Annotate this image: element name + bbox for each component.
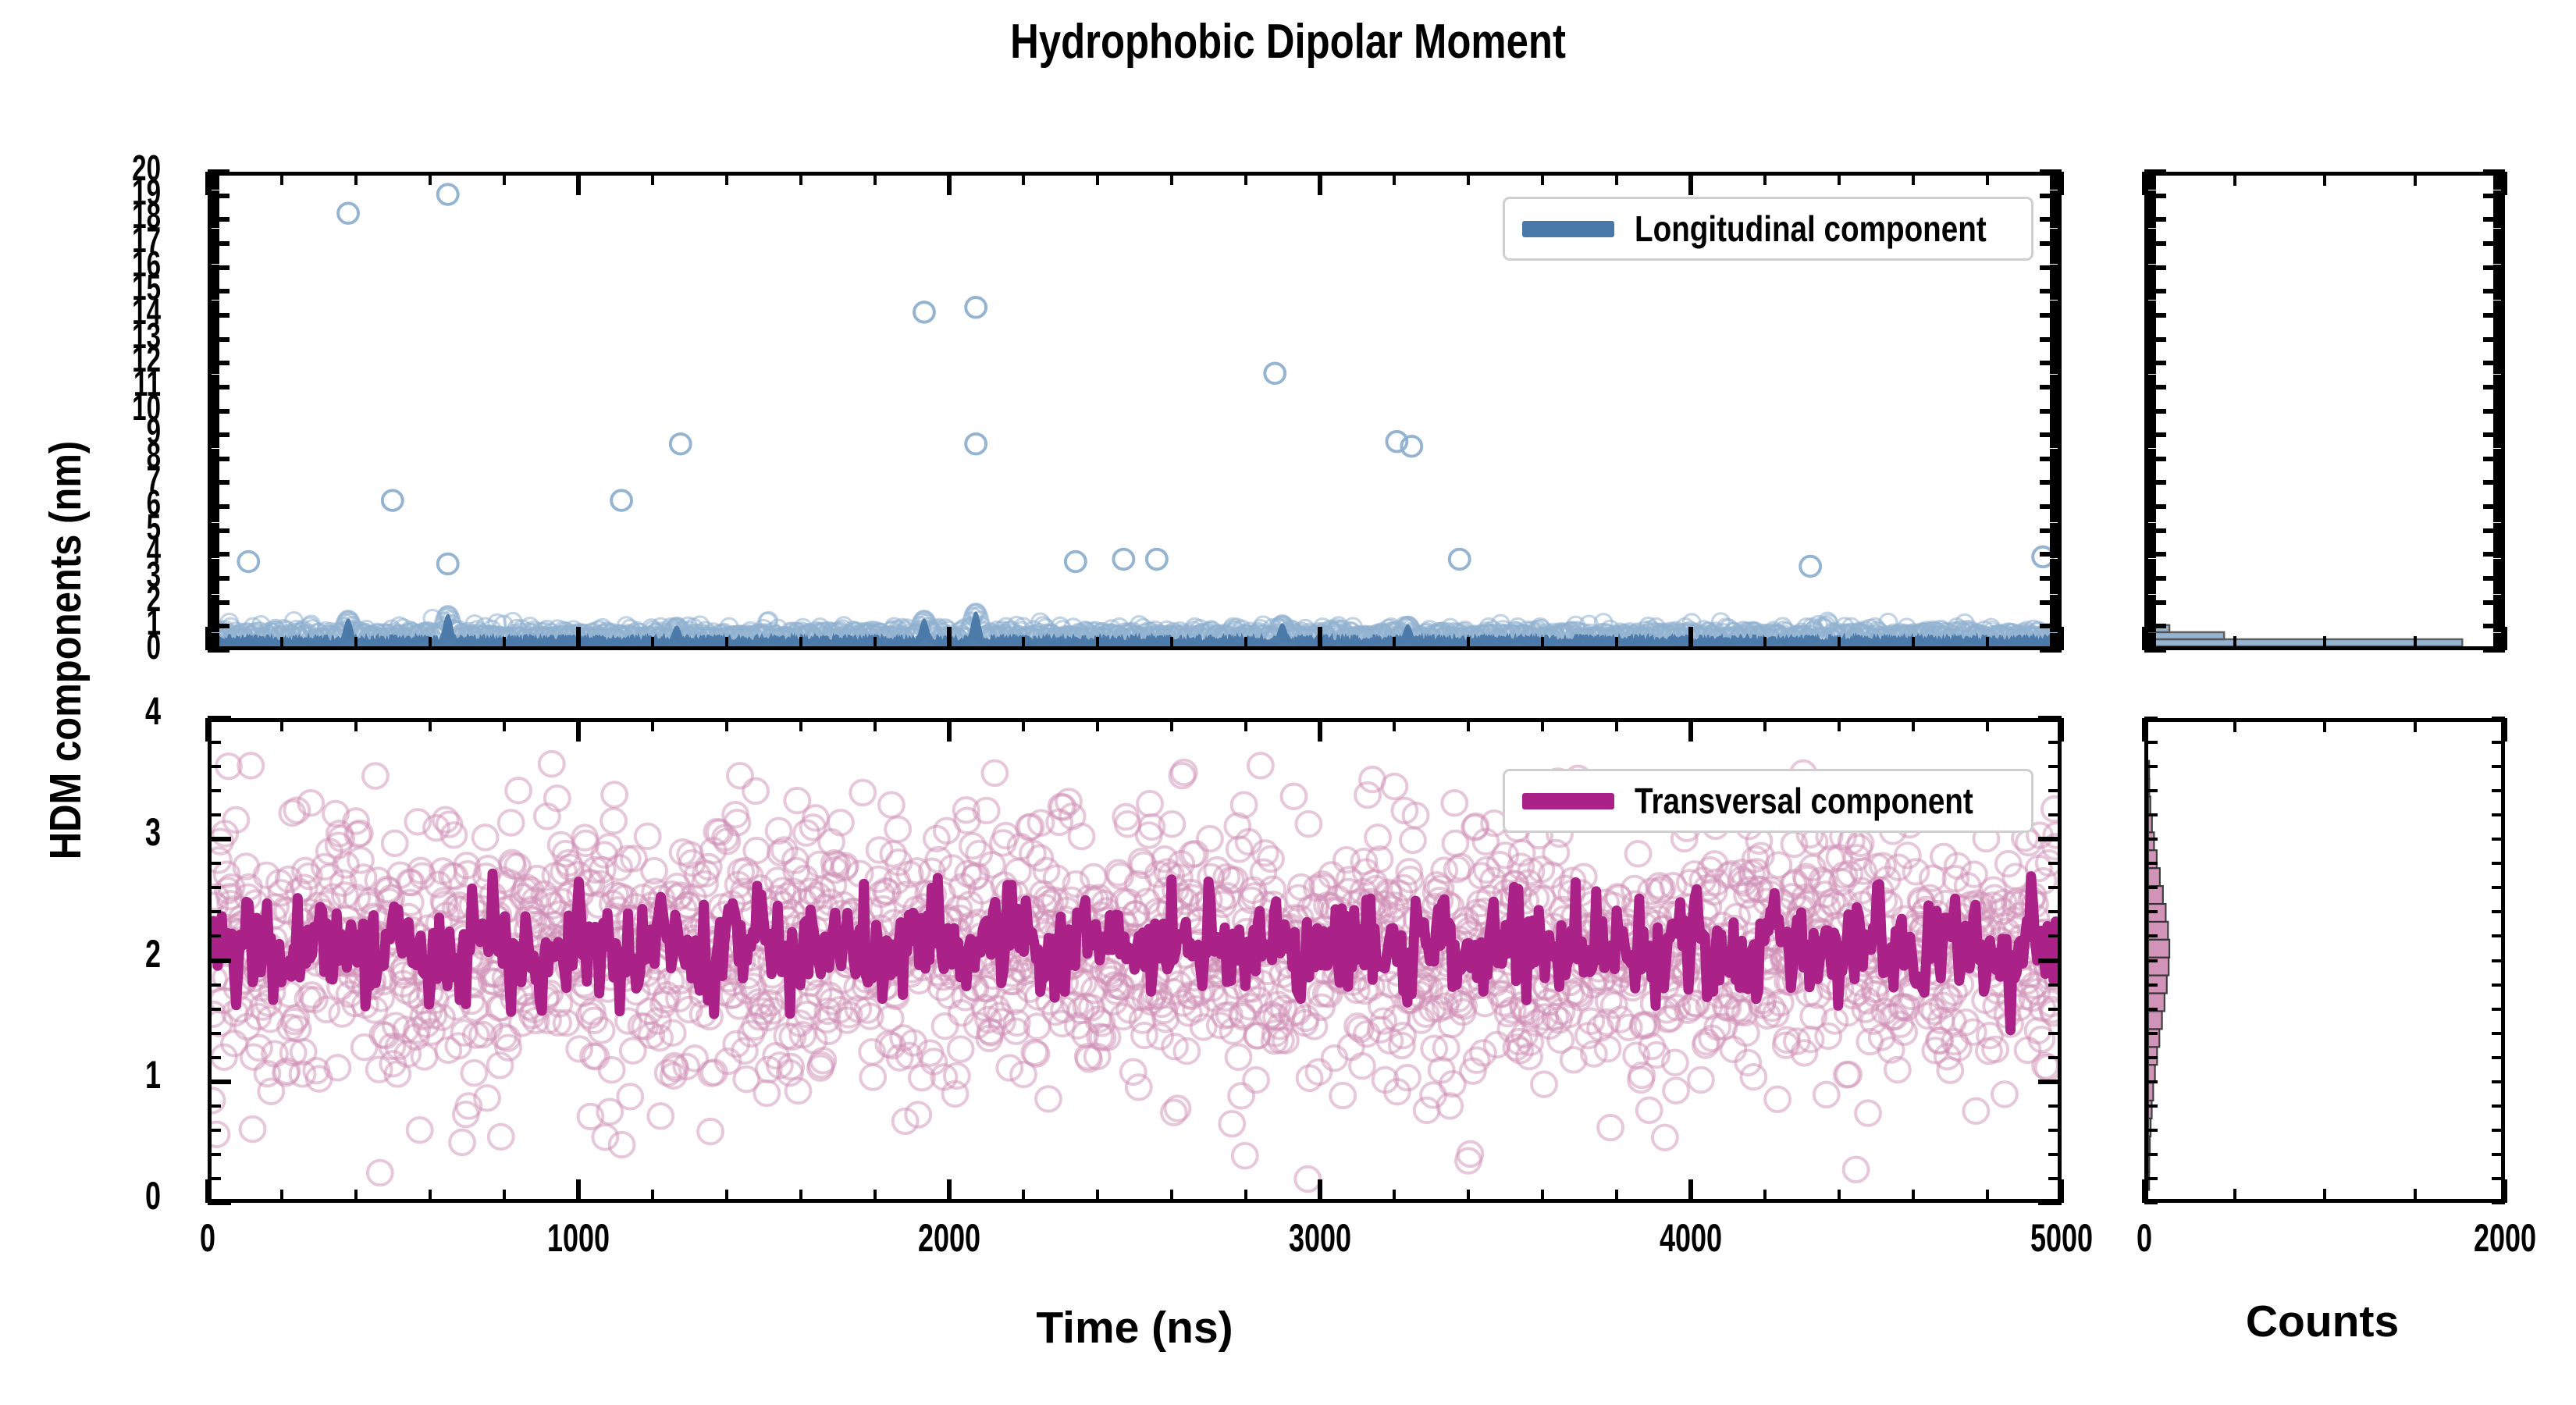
hist-y-minor-tick-right: [2492, 1008, 2505, 1011]
hist-y-minor-tick-upper: [2144, 518, 2156, 520]
hist-y-minor-tick-upper: [2144, 348, 2156, 350]
y-minor-tick-upper: [208, 333, 219, 336]
hist-y-minor-tick-upper-right: [2493, 226, 2505, 228]
hist-y-minor-tick-upper-right: [2493, 353, 2505, 355]
hist-y-minor-tick-upper: [2144, 319, 2156, 322]
hist-y-minor-tick-upper: [2144, 645, 2156, 647]
y-minor-tick: [208, 838, 221, 841]
y-minor-tick-upper-right: [2050, 566, 2062, 568]
hist-y-minor-tick-upper-right: [2493, 272, 2505, 274]
y-minor-tick-upper-right: [2050, 434, 2062, 436]
hist-y-minor-tick-upper: [2144, 439, 2156, 441]
y-minor-tick-upper-right: [2050, 369, 2062, 372]
hist-y-minor-tick-upper-right: [2493, 638, 2505, 640]
hist-y-minor-tick-upper: [2144, 621, 2156, 623]
y-minor-tick: [208, 1129, 221, 1132]
hist-y-minor-tick-upper: [2144, 415, 2156, 418]
y-minor-tick-upper: [208, 611, 219, 614]
hist-y-minor-tick-upper: [2144, 477, 2156, 479]
hist-y-minor-tick-upper: [2144, 357, 2156, 360]
y-minor-tick-upper: [208, 571, 219, 573]
x-minor-tick: [725, 1190, 728, 1203]
hist-y-minor-tick-upper-right: [2493, 223, 2505, 226]
hist-y-minor-tick-upper: [2144, 449, 2156, 451]
y-minor-tick-upper: [208, 461, 219, 463]
x-minor-tick-upper: [1170, 637, 1173, 650]
y-minor-tick: [208, 983, 221, 987]
hist-y-minor-tick-upper-right: [2493, 274, 2505, 276]
y-minor-tick-upper-right: [2050, 580, 2062, 582]
hist-y-minor-tick-upper-right: [2493, 542, 2505, 544]
y-minor-tick-upper-right: [2050, 595, 2062, 597]
hist-y-minor-tick-upper: [2144, 635, 2156, 638]
y-minor-tick-upper: [208, 573, 219, 575]
hist-y-minor-tick-upper: [2144, 375, 2156, 377]
hist-y-minor-tick-upper-right: [2493, 180, 2505, 183]
hist-y-minor-tick-upper: [2144, 295, 2156, 297]
y-minor-tick-upper-right: [2050, 195, 2062, 197]
y-minor-tick-upper-right: [2050, 592, 2062, 594]
hist-y-minor-tick: [2144, 838, 2158, 841]
y-minor-tick-upper-right: [2050, 439, 2062, 441]
y-minor-tick-upper-right: [2050, 357, 2062, 360]
x-major-tick-upper-top: [576, 172, 581, 195]
y-minor-tick-upper-right: [2050, 405, 2062, 407]
hist-y-minor-tick-upper: [2144, 398, 2156, 400]
y-minor-tick-upper: [208, 468, 219, 470]
y-minor-tick-upper: [208, 384, 219, 386]
y-minor-tick-upper-right: [2050, 231, 2062, 233]
y-minor-tick-upper: [208, 549, 219, 551]
y-minor-tick-upper-right: [2050, 343, 2062, 346]
y-minor-tick-upper: [208, 489, 219, 492]
x-minor-tick: [1467, 1190, 1470, 1203]
hist-y-minor-tick-upper: [2144, 582, 2156, 585]
y-minor-tick-upper-right: [2050, 523, 2062, 525]
y-tick-label-1: 1: [0, 1052, 161, 1097]
y-minor-tick-upper: [208, 537, 219, 539]
y-minor-tick-upper: [208, 243, 219, 245]
y-minor-tick-upper: [208, 297, 219, 300]
y-minor-tick-upper: [208, 585, 219, 587]
y-minor-tick-upper: [208, 212, 219, 214]
y-minor-tick-upper: [208, 463, 219, 465]
y-minor-tick-upper: [208, 322, 219, 324]
hist-y-minor-tick: [2144, 910, 2158, 913]
hist-y-minor-tick-upper-right: [2493, 261, 2505, 264]
y-minor-tick-upper-right: [2050, 391, 2062, 393]
y-minor-tick-upper-right: [2050, 171, 2062, 173]
hist-y-major-tick-upper: [2144, 576, 2166, 581]
y-minor-tick-upper-right: [2050, 331, 2062, 333]
hist-y-minor-tick-upper-right: [2493, 331, 2505, 333]
y-minor-tick-upper-right: [2050, 508, 2062, 510]
hist-y-minor-tick-upper: [2144, 535, 2156, 537]
hist-y-minor-tick-upper: [2144, 324, 2156, 326]
hist-y-major-tick-upper-right: [2483, 528, 2505, 533]
hist-y-minor-tick-upper-right: [2493, 513, 2505, 515]
y-minor-tick-upper: [208, 628, 219, 630]
y-minor-tick-upper-right: [2050, 475, 2062, 477]
x-minor-tick: [1170, 1190, 1173, 1203]
hist-y-minor-tick-upper-right: [2493, 614, 2505, 616]
y-minor-tick-upper-right: [2050, 379, 2062, 382]
hist-y-minor-tick-upper: [2144, 379, 2156, 382]
hist-y-major-tick-upper: [2144, 265, 2166, 270]
y-minor-tick-upper-right: [2050, 611, 2062, 614]
y-minor-tick: [208, 1201, 221, 1204]
x-tick-label-2000: 2000: [854, 1215, 1045, 1261]
hist-y-minor-tick: [2144, 1008, 2158, 1011]
hist-y-minor-tick-upper-right: [2493, 236, 2505, 238]
x-minor-tick-upper: [354, 637, 358, 650]
hist-y-minor-tick-upper-right: [2493, 185, 2505, 187]
legend-label-transversal: Transversal component: [1635, 780, 1973, 822]
y-minor-tick-upper-right: [2050, 647, 2062, 649]
y-minor-tick-upper-right: [2050, 346, 2062, 348]
y-minor-tick-upper-right: [2050, 243, 2062, 245]
y-minor-tick-upper: [208, 398, 219, 400]
hist-y-major-tick-upper: [2144, 194, 2166, 198]
hist-y-minor-tick-upper: [2144, 510, 2156, 513]
x-minor-tick-upper-top: [1170, 172, 1173, 185]
hist-y-minor-tick-upper: [2144, 403, 2156, 405]
counts-minor-tick: [2323, 1189, 2326, 1203]
x-minor-tick-top: [948, 718, 951, 731]
hist-y-major-tick-upper-right: [2483, 337, 2505, 342]
y-minor-tick-upper-right: [2050, 281, 2062, 283]
y-minor-tick-upper-right: [2050, 458, 2062, 461]
x-minor-tick: [503, 1190, 506, 1203]
counts-minor-tick-top: [2323, 718, 2326, 732]
hist-y-minor-tick-upper: [2144, 236, 2156, 238]
y-minor-tick-upper-right: [2050, 396, 2062, 398]
hist-y-major-tick-upper-right: [2483, 432, 2505, 437]
x-minor-tick-top: [1318, 718, 1322, 731]
y-minor-tick: [208, 1080, 221, 1083]
legend-label-longitudinal: Longitudinal component: [1635, 208, 1987, 250]
hist-y-minor-tick-upper: [2144, 566, 2156, 568]
hist-y-minor-tick-upper: [2144, 475, 2156, 477]
hist-y-minor-tick-upper-right: [2493, 449, 2505, 451]
hist-y-minor-tick-upper-right: [2493, 439, 2505, 441]
counts-minor-tick-u: [2233, 636, 2236, 650]
x-minor-tick-top: [1763, 718, 1767, 731]
hist-y-minor-tick: [2144, 1129, 2158, 1132]
hist-y-minor-tick-upper: [2144, 520, 2156, 522]
hist-y-minor-tick-upper-right: [2493, 441, 2505, 443]
hist-y-minor-tick-upper-right: [2493, 209, 2505, 212]
y-minor-tick-upper: [208, 288, 219, 290]
hist-y-minor-tick-upper: [2144, 513, 2156, 515]
hist-y-minor-tick-upper-right: [2493, 635, 2505, 638]
hist-y-minor-tick-upper: [2144, 405, 2156, 407]
y-minor-tick-upper-right: [2050, 461, 2062, 463]
hist-y-minor-tick-upper-right: [2493, 297, 2505, 300]
hist-y-minor-tick-upper-right: [2493, 468, 2505, 470]
hist-y-minor-tick-upper-right: [2493, 510, 2505, 513]
y-minor-tick-upper-right: [2050, 427, 2062, 429]
hist-y-minor-tick-upper-right: [2493, 573, 2505, 575]
x-minor-tick-upper-top: [280, 172, 283, 185]
transversal-histogram-panel: [2144, 718, 2505, 1203]
y-minor-tick-upper: [208, 183, 219, 185]
y-minor-tick-right: [2048, 1129, 2062, 1132]
y-minor-tick-upper-right: [2050, 200, 2062, 202]
y-minor-tick-upper-right: [2050, 494, 2062, 496]
y-minor-tick-upper: [208, 274, 219, 276]
y-minor-tick-upper: [208, 386, 219, 389]
hist-y-minor-tick-upper: [2144, 539, 2156, 542]
hist-y-minor-tick-upper: [2144, 420, 2156, 422]
y-minor-tick-upper: [208, 510, 219, 513]
y-minor-tick-upper-right: [2050, 451, 2062, 454]
y-minor-tick-upper-right: [2050, 259, 2062, 261]
hist-y-minor-tick-upper-right: [2493, 518, 2505, 520]
y-minor-tick-upper: [208, 365, 219, 367]
hist-y-minor-tick-upper-right: [2493, 630, 2505, 632]
hist-y-minor-tick-upper: [2144, 425, 2156, 427]
x-major-tick-upper-top: [1688, 172, 1693, 195]
y-minor-tick-upper-right: [2050, 492, 2062, 494]
y-minor-tick-upper-right: [2050, 528, 2062, 530]
y-minor-tick-upper: [208, 286, 219, 288]
y-minor-tick-upper-right: [2050, 623, 2062, 625]
hist-y-minor-tick-upper: [2144, 238, 2156, 240]
y-minor-tick-upper-right: [2050, 180, 2062, 183]
y-minor-tick: [208, 1032, 221, 1035]
hist-y-minor-tick-upper: [2144, 515, 2156, 518]
y-minor-tick-upper: [208, 487, 219, 489]
hist-y-minor-tick-upper: [2144, 642, 2156, 645]
hist-y-major-tick-upper-right: [2483, 361, 2505, 365]
hist-y-minor-tick-upper: [2144, 546, 2156, 549]
hist-y-minor-tick: [2144, 1201, 2158, 1204]
y-minor-tick-upper: [208, 604, 219, 606]
y-minor-tick-upper-right: [2050, 365, 2062, 367]
x-minor-tick-top: [280, 718, 283, 731]
y-minor-tick-upper: [208, 422, 219, 425]
y-minor-tick-upper-right: [2050, 319, 2062, 322]
y-minor-tick-upper-right: [2050, 288, 2062, 290]
y-minor-tick-upper: [208, 355, 219, 357]
y-minor-tick-upper: [208, 372, 219, 374]
hist-y-minor-tick-upper: [2144, 468, 2156, 470]
hist-y-minor-tick-upper: [2144, 441, 2156, 443]
x-tick-label-4000: 4000: [1596, 1215, 1787, 1261]
hist-y-minor-tick-upper-right: [2493, 377, 2505, 379]
figure-root: Hydrophobic Dipolar Moment HDM component…: [0, 0, 2576, 1405]
x-minor-tick-top: [1467, 718, 1470, 731]
y-minor-tick-upper-right: [2050, 472, 2062, 475]
y-minor-tick-upper: [208, 556, 219, 558]
y-minor-tick-right: [2048, 813, 2062, 816]
hist-y-minor-tick-upper-right: [2493, 247, 2505, 250]
x-minor-tick-upper-top: [1467, 172, 1470, 185]
y-minor-tick-upper: [208, 499, 219, 501]
hist-y-minor-tick-upper: [2144, 355, 2156, 357]
y-minor-tick-upper-right: [2050, 618, 2062, 621]
y-minor-tick-upper-right: [2050, 625, 2062, 628]
x-minor-tick-top: [1615, 718, 1618, 731]
x-tick-label-3000: 3000: [1225, 1215, 1416, 1261]
y-minor-tick: [208, 1104, 221, 1108]
y-minor-tick-upper: [208, 508, 219, 510]
hist-y-minor-tick-upper-right: [2493, 571, 2505, 573]
hist-y-minor-tick-right: [2492, 1177, 2505, 1180]
y-minor-tick-upper: [208, 405, 219, 407]
y-minor-tick-upper: [208, 530, 219, 532]
y-minor-tick-upper-right: [2050, 329, 2062, 331]
y-minor-tick-upper-right: [2050, 303, 2062, 305]
hist-y-minor-tick-upper-right: [2493, 405, 2505, 407]
hist-y-minor-tick-upper: [2144, 178, 2156, 180]
y-minor-tick-upper: [208, 240, 219, 243]
hist-y-minor-tick-upper-right: [2493, 477, 2505, 479]
y-minor-tick-upper: [208, 446, 219, 448]
x-minor-tick-upper-top: [873, 172, 877, 185]
y-minor-tick-upper-right: [2050, 322, 2062, 324]
y-minor-tick-upper: [208, 599, 219, 602]
y-minor-tick-upper-right: [2050, 193, 2062, 195]
y-minor-tick-upper-right: [2050, 606, 2062, 609]
x-minor-tick-top: [873, 718, 877, 731]
hist-y-minor-tick-upper: [2144, 494, 2156, 496]
y-minor-tick-upper: [208, 625, 219, 628]
counts-tick-label-0: 0: [2049, 1215, 2240, 1261]
y-minor-tick-upper: [208, 649, 219, 652]
hist-y-minor-tick-upper: [2144, 274, 2156, 276]
hist-y-minor-tick-right: [2492, 765, 2505, 768]
hist-y-major-tick-upper-right: [2483, 409, 2505, 414]
hist-y-minor-tick-upper-right: [2493, 276, 2505, 279]
y-minor-tick-upper: [208, 233, 219, 236]
y-minor-tick-upper-right: [2050, 477, 2062, 479]
y-minor-tick-upper: [208, 587, 219, 589]
transversal-histogram-canvas: [2148, 722, 2501, 1199]
hist-y-minor-tick-upper-right: [2493, 515, 2505, 518]
y-minor-tick-right: [2048, 959, 2062, 962]
y-minor-tick-upper: [208, 635, 219, 638]
x-minor-tick-top: [799, 718, 802, 731]
counts-minor-tick: [2233, 1189, 2236, 1203]
hist-y-minor-tick-upper-right: [2493, 178, 2505, 180]
y-minor-tick-upper: [208, 575, 219, 578]
y-minor-tick-upper-right: [2050, 297, 2062, 300]
hist-y-minor-tick-upper-right: [2493, 202, 2505, 205]
y-minor-tick-right: [2048, 1153, 2062, 1156]
hist-y-minor-tick-upper-right: [2493, 429, 2505, 432]
y-minor-tick-upper: [208, 418, 219, 420]
hist-y-minor-tick-upper: [2144, 470, 2156, 472]
y-minor-tick-upper: [208, 197, 219, 200]
y-tick-label-top-20: 20: [0, 147, 161, 189]
y-minor-tick-upper-right: [2050, 205, 2062, 207]
hist-y-minor-tick-upper-right: [2493, 231, 2505, 233]
hist-y-minor-tick-upper: [2144, 350, 2156, 353]
hist-y-major-tick-upper: [2144, 648, 2166, 653]
y-minor-tick-upper-right: [2050, 341, 2062, 343]
hist-y-minor-tick-upper-right: [2493, 214, 2505, 216]
x-minor-tick-upper: [1838, 637, 1841, 650]
hist-y-minor-tick-upper: [2144, 200, 2156, 202]
hist-y-minor-tick-upper-right: [2493, 544, 2505, 546]
hist-y-minor-tick: [2144, 765, 2158, 768]
x-minor-tick-upper: [1393, 637, 1396, 650]
hist-y-minor-tick-upper: [2144, 393, 2156, 396]
hist-y-minor-tick: [2144, 934, 2158, 937]
y-minor-tick-upper-right: [2050, 609, 2062, 611]
x-minor-tick: [1096, 1190, 1099, 1203]
y-minor-tick-upper-right: [2050, 485, 2062, 487]
y-minor-tick-upper: [208, 456, 219, 458]
y-minor-tick-upper: [208, 261, 219, 264]
y-minor-tick-upper: [208, 324, 219, 326]
y-tick-label-0: 0: [0, 1173, 161, 1218]
y-minor-tick-upper-right: [2050, 589, 2062, 592]
y-minor-tick-upper: [208, 252, 219, 254]
hist-y-minor-tick-upper-right: [2493, 606, 2505, 609]
y-minor-tick-upper-right: [2050, 214, 2062, 216]
hist-y-minor-tick-upper-right: [2493, 415, 2505, 418]
x-minor-tick-upper: [1096, 637, 1099, 650]
y-minor-tick-upper-right: [2050, 553, 2062, 556]
x-minor-tick-upper-top: [1615, 172, 1618, 185]
y-minor-tick-upper: [208, 479, 219, 482]
y-minor-tick-upper-right: [2050, 585, 2062, 587]
hist-y-minor-tick-upper: [2144, 297, 2156, 300]
y-minor-tick-upper: [208, 568, 219, 571]
y-minor-tick-upper: [208, 582, 219, 585]
hist-y-major-tick-upper-right: [2483, 624, 2505, 628]
y-minor-tick-upper-right: [2050, 333, 2062, 336]
hist-y-minor-tick-upper: [2144, 633, 2156, 635]
y-minor-tick-upper-right: [2050, 384, 2062, 386]
y-minor-tick-upper: [208, 647, 219, 649]
y-minor-tick-upper: [208, 226, 219, 228]
hist-y-minor-tick-upper: [2144, 250, 2156, 252]
y-minor-tick-upper: [208, 231, 219, 233]
y-minor-tick-upper: [208, 485, 219, 487]
hist-y-major-tick-upper: [2144, 337, 2166, 342]
x-major-tick-upper-top: [947, 172, 952, 195]
x-minor-tick: [577, 1190, 580, 1203]
hist-y-minor-tick-upper-right: [2493, 346, 2505, 348]
x-minor-tick-top: [651, 718, 654, 731]
hist-y-minor-tick-upper: [2144, 561, 2156, 564]
longitudinal-histogram-canvas: [2148, 176, 2501, 646]
x-major-tick-upper: [1688, 627, 1693, 650]
y-minor-tick-upper: [208, 369, 219, 372]
hist-y-minor-tick-upper-right: [2493, 597, 2505, 599]
counts-minor-tick-ut: [2323, 172, 2326, 186]
y-minor-tick-upper-right: [2050, 393, 2062, 396]
y-minor-tick-upper-right: [2050, 219, 2062, 221]
y-minor-tick-upper-right: [2050, 185, 2062, 187]
y-minor-tick-upper: [208, 202, 219, 205]
x-minor-tick-top: [1689, 718, 1692, 731]
y-minor-tick-upper-right: [2050, 542, 2062, 544]
y-minor-tick-upper: [208, 238, 219, 240]
hist-y-minor-tick-upper: [2144, 272, 2156, 274]
hist-y-minor-tick-upper: [2144, 597, 2156, 599]
y-minor-tick-upper-right: [2050, 499, 2062, 501]
y-minor-tick-upper-right: [2050, 578, 2062, 580]
hist-y-minor-tick-upper: [2144, 185, 2156, 187]
y-minor-tick-upper-right: [2050, 295, 2062, 297]
hist-y-minor-tick-upper: [2144, 592, 2156, 594]
hist-y-minor-tick-upper-right: [2493, 350, 2505, 353]
